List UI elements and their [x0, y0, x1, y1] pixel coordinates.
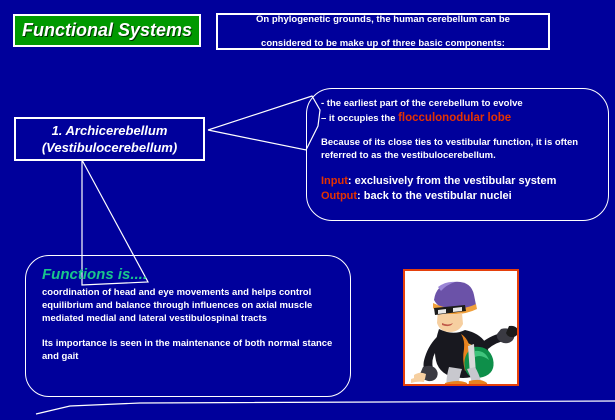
callout-tail-archicerebellum [208, 96, 320, 150]
output-line: Output: back to the vestibular nuclei [321, 189, 598, 204]
slide-title-chip: Functional Systems [13, 14, 201, 47]
intro-line-2: considered to be make up of three basic … [256, 38, 510, 50]
functions-heading: Functions is.... [42, 265, 340, 284]
clipart-frame [403, 269, 519, 386]
detail-bullet-2-prefix: – it occupies the [321, 113, 398, 124]
bottom-accent-rule [36, 401, 615, 414]
intro-statement-text: On phylogenetic grounds, the human cereb… [256, 14, 510, 50]
archicerebellum-subtitle: (Vestibulocerebellum) [42, 139, 177, 156]
detail-paragraph: Because of its close ties to vestibular … [321, 136, 598, 162]
detail-bullet-1: - the earliest part of the cerebellum to… [321, 97, 598, 111]
input-output-block: Input: exclusively from the vestibular s… [321, 174, 598, 204]
detail-bullet-2: – it occupies the flocculonodular lobe [321, 111, 598, 126]
page-title: Functional Systems [22, 20, 192, 41]
archicerebellum-label-box: 1. Archicerebellum (Vestibulocerebellum) [14, 117, 205, 161]
inline-skater-clipart [405, 271, 517, 384]
output-key-label: Output [321, 190, 357, 202]
output-value-text: : back to the vestibular nuclei [357, 190, 512, 202]
intro-line-1: On phylogenetic grounds, the human cereb… [256, 14, 510, 26]
archicerebellum-title: 1. Archicerebellum [52, 122, 168, 139]
functions-callout: Functions is.... coordination of head an… [25, 255, 351, 397]
flocculonodular-lobe-highlight: flocculonodular lobe [398, 112, 511, 124]
functions-paragraph-1: coordination of head and eye movements a… [42, 286, 340, 325]
archicerebellum-detail-callout: - the earliest part of the cerebellum to… [306, 88, 609, 221]
input-line: Input: exclusively from the vestibular s… [321, 174, 598, 189]
functions-paragraph-2: Its importance is seen in the maintenanc… [42, 337, 340, 363]
input-value-text: : exclusively from the vestibular system [348, 175, 556, 187]
intro-statement-box: On phylogenetic grounds, the human cereb… [216, 13, 550, 50]
slide-canvas: Functional Systems On phylogenetic groun… [0, 0, 615, 420]
input-key-label: Input [321, 175, 348, 187]
